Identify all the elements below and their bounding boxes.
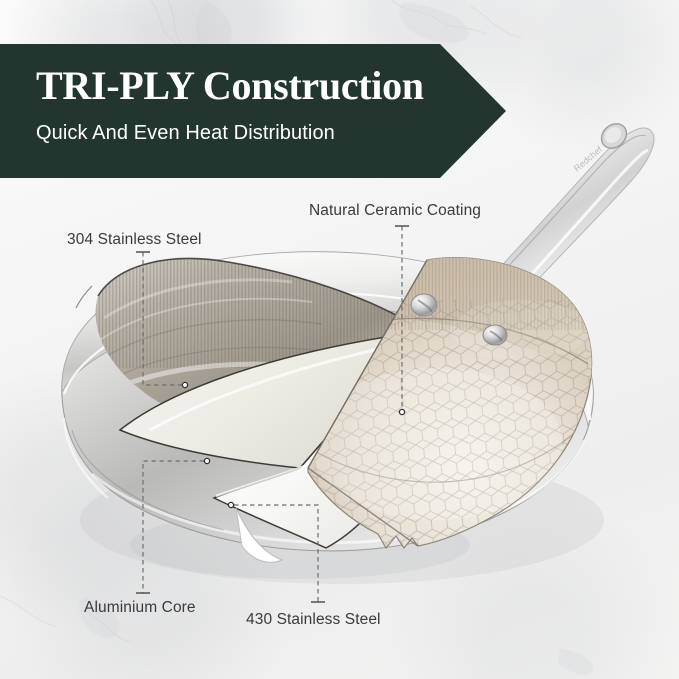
callout-label-stainless-430: 430 Stainless Steel (246, 611, 381, 629)
banner-title: TRI-PLY Construction (36, 62, 466, 110)
callout-label-ceramic-coating: Natural Ceramic Coating (309, 202, 481, 220)
banner-subtitle: Quick And Even Heat Distribution (36, 120, 466, 146)
banner-text-block: TRI-PLY Construction Quick And Even Heat… (36, 62, 466, 146)
callout-label-aluminium-core: Aluminium Core (84, 599, 196, 617)
headline-banner: TRI-PLY Construction Quick And Even Heat… (0, 44, 506, 178)
callout-label-stainless-304: 304 Stainless Steel (67, 231, 202, 249)
infographic-canvas: Redchef (0, 0, 679, 679)
